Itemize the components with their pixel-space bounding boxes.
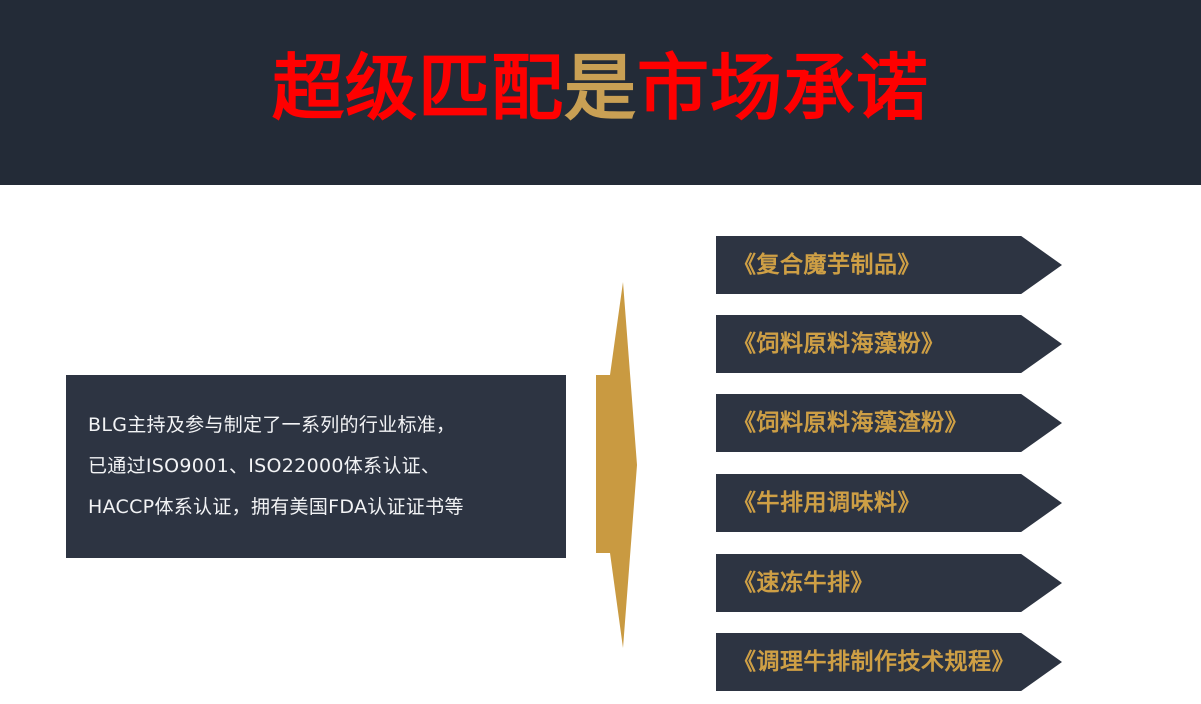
page-title-segment-gold: 是 xyxy=(564,46,637,130)
standards-list: 《复合魔芋制品》 《饲料原料海藻粉》 《饲料原料海藻渣粉》 《牛排用调味料》 《… xyxy=(716,236,1066,692)
description-line-2: 已通过ISO9001、ISO22000体系认证、 xyxy=(88,446,544,487)
gold-right-arrow-icon xyxy=(596,282,646,648)
standard-item-label: 《牛排用调味料》 xyxy=(716,489,921,517)
standard-item-3[interactable]: 《饲料原料海藻渣粉》 xyxy=(716,394,1062,452)
page-title: 超级匹配是市场承诺 xyxy=(0,46,1201,130)
description-card: BLG主持及参与制定了一系列的行业标准， 已通过ISO9001、ISO22000… xyxy=(66,375,566,558)
standard-item-2[interactable]: 《饲料原料海藻粉》 xyxy=(716,315,1062,373)
page-title-segment-red-2: 市场承诺 xyxy=(637,46,929,130)
standard-item-label: 《速冻牛排》 xyxy=(716,569,874,597)
standard-item-4[interactable]: 《牛排用调味料》 xyxy=(716,474,1062,532)
standard-item-label: 《饲料原料海藻渣粉》 xyxy=(716,409,968,437)
standard-item-label: 《复合魔芋制品》 xyxy=(716,251,921,279)
description-line-1: BLG主持及参与制定了一系列的行业标准， xyxy=(88,405,544,446)
standard-item-6[interactable]: 《调理牛排制作技术规程》 xyxy=(716,633,1062,691)
standard-item-5[interactable]: 《速冻牛排》 xyxy=(716,554,1062,612)
page-title-segment-red-1: 超级匹配 xyxy=(272,46,564,130)
standard-item-label: 《饲料原料海藻粉》 xyxy=(716,330,945,358)
slide-canvas: 超级匹配是市场承诺 BLG主持及参与制定了一系列的行业标准， 已通过ISO900… xyxy=(0,0,1201,704)
standard-item-1[interactable]: 《复合魔芋制品》 xyxy=(716,236,1062,294)
description-line-3: HACCP体系认证，拥有美国FDA认证证书等 xyxy=(88,487,544,528)
standard-item-label: 《调理牛排制作技术规程》 xyxy=(716,648,1015,676)
